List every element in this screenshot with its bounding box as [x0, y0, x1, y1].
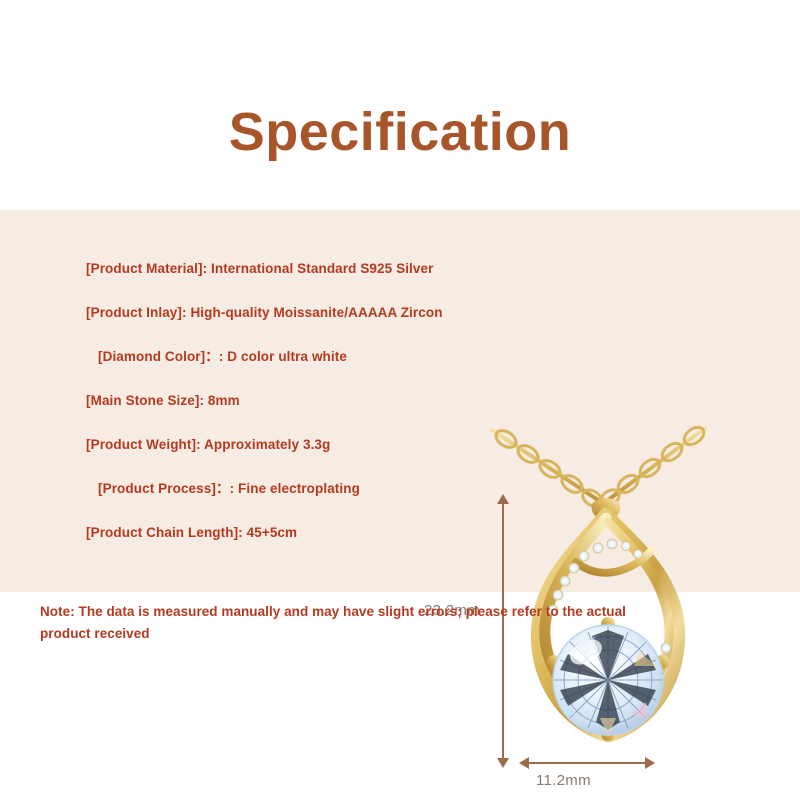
- height-arrow-head-bottom: [497, 758, 509, 768]
- page-title: Specification: [0, 101, 800, 163]
- title-band: Specification: [0, 0, 800, 210]
- specification-page: Specification [Product Material]: Intern…: [0, 0, 800, 800]
- width-dimension-line: [527, 762, 647, 764]
- spec-item-product-chain-length: [Product Chain Length]: 45+5cm: [86, 526, 486, 570]
- spec-item-product-weight: [Product Weight]: Approximately 3.3g: [86, 438, 486, 482]
- width-arrow-head-right: [645, 757, 655, 769]
- spec-panel: [Product Material]: International Standa…: [0, 210, 800, 592]
- spec-item-product-inlay: [Product Inlay]: High-quality Moissanite…: [86, 306, 486, 350]
- width-dimension-label: 11.2mm: [0, 772, 800, 789]
- spec-item-product-process: [Product Process]：: Fine electroplating: [86, 482, 486, 526]
- product-image: [480, 422, 800, 770]
- spec-item-product-material: [Product Material]: International Standa…: [86, 262, 486, 306]
- spec-item-diamond-color: [Diamond Color]：: D color ultra white: [86, 350, 486, 394]
- specification-list: [Product Material]: International Standa…: [86, 262, 486, 570]
- necklace-chain: [492, 428, 705, 500]
- measurement-note: Note: The data is measured manually and …: [40, 601, 640, 645]
- spec-item-main-stone-size: [Main Stone Size]: 8mm: [86, 394, 486, 438]
